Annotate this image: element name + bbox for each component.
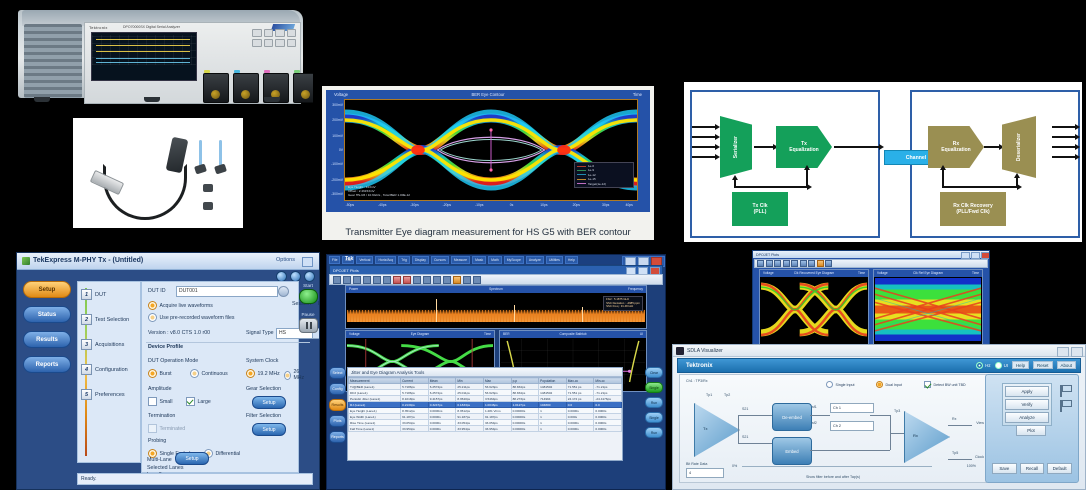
system-clock-label: System Clock: [246, 358, 278, 364]
probe-lead-1: [199, 140, 202, 166]
step-number: 4: [81, 364, 92, 375]
rx-clk-to-eq: [942, 170, 944, 188]
checkbox-terminated[interactable]: Terminated: [148, 424, 185, 433]
tekexpress-window[interactable]: TekExpress M-PHY Tx - (Untitled) Options…: [16, 252, 320, 490]
dpojet-plots-title: DPOJET Plots: [333, 268, 359, 273]
step-configuration[interactable]: 4Configuration: [78, 357, 140, 382]
rxeq-to-deser-arrow: [984, 146, 1000, 148]
wire-in-bottom: [738, 443, 772, 444]
zoom-out-icon[interactable]: [783, 260, 790, 267]
close-icon[interactable]: [304, 271, 315, 282]
multi-lane-label: Multi-Lane: [147, 457, 172, 463]
multi-lane-setup-button[interactable]: Setup: [175, 452, 209, 465]
dpojet-left-buttons[interactable]: Select Config Results Plots Reports: [329, 367, 346, 447]
sdla-recall-button[interactable]: Recall: [1020, 463, 1045, 474]
wire-to-out-amp: [890, 433, 904, 434]
sdla-brand-label: Tektronix: [686, 363, 713, 369]
dual-eye-titlebar: DPOJET Plots: [753, 251, 990, 258]
eye-diagram-caption: Transmitter Eye diagram measurement for …: [322, 227, 654, 238]
marker-icon[interactable]: [403, 276, 411, 284]
radio-clock-19[interactable]: 19.2 MHz: [246, 369, 280, 378]
layout-icon[interactable]: [808, 260, 815, 267]
wire-in-top: [738, 415, 772, 416]
sdla-verify-button[interactable]: Verify: [1005, 399, 1049, 410]
dut-id-label: DUT ID: [148, 288, 166, 294]
dpojet-right-buttons[interactable]: Clear Single Run Single Run: [645, 367, 663, 442]
eye-x-label: Time: [484, 332, 491, 336]
progress-slider[interactable]: [742, 466, 932, 467]
right-eye-canvas: [875, 278, 981, 341]
eye-y-label: Voltage: [349, 332, 360, 336]
deembed-block[interactable]: De-embed: [772, 403, 812, 431]
left-eye-header: Voltage Clk Recovered Eye Diagram Time: [760, 270, 868, 277]
sdla-reset-button[interactable]: Reset: [1033, 361, 1052, 369]
left-eye-y-label: Voltage: [763, 271, 774, 275]
tx-clock-block: Tx Clk(PLL): [732, 192, 788, 226]
tekexpress-options-menu[interactable]: Options: [276, 257, 295, 263]
oscilloscope-photo: Tektronix DPO70000SX Digital Serial Anal…: [8, 2, 313, 106]
sdla-primary-actions[interactable]: Apply Verify Analyze: [1002, 383, 1052, 426]
sdla-title: SDLA Visualizer: [687, 348, 723, 354]
termination-label: Termination: [148, 413, 175, 419]
tx-clk-to-eq: [806, 170, 808, 188]
left-eye-x-label: Time: [858, 271, 865, 275]
radio-continuous[interactable]: Continuous: [190, 369, 228, 378]
ber-eye-legend: 1e-6 1e-9 1e-12 1e-15 Target(1e-12): [574, 162, 634, 188]
radio-dual-input[interactable]: Dual Input: [876, 381, 902, 388]
refresh-icon[interactable]: [463, 276, 471, 284]
tekexpress-title: TekExpress M-PHY Tx - (Untitled): [33, 257, 143, 264]
pause-label: Pause: [299, 312, 317, 317]
ser-to-txeq-arrow: [754, 146, 774, 148]
eye-header: Voltage Eye Diagram Time: [346, 331, 494, 338]
dual-eye-title: DPOJET Plots: [756, 253, 779, 257]
print-icon[interactable]: [766, 260, 773, 267]
tekexpress-dut-panel: DUT ID DUT001 Acquire live waveforms Ses…: [141, 281, 299, 473]
sdla-analyze-button[interactable]: Analyze: [1005, 412, 1049, 423]
probing-label: Probing: [148, 438, 166, 444]
dut-id-input[interactable]: DUT001: [176, 286, 278, 297]
sdla-footer-note: Show filter before and after Tap(s): [806, 475, 860, 479]
rx-clk-to-deser: [1016, 178, 1018, 188]
close-icon[interactable]: [981, 252, 990, 259]
radio-prerecorded[interactable]: Use pre-recorded waveform files: [148, 313, 234, 322]
differential-probe-photo: [55, 108, 255, 236]
print-icon[interactable]: [343, 276, 351, 284]
clk-recovered-eye-plot: Voltage Clk Recovered Eye Diagram Time: [759, 269, 869, 349]
step-dut[interactable]: 1DUT: [78, 282, 140, 307]
dpojet-btn-config[interactable]: Config: [329, 383, 346, 395]
scope-menu-bar[interactable]: File Edit Vertical Horiz/Acq Trig Displa…: [327, 255, 666, 264]
filter-icon[interactable]: [433, 276, 441, 284]
bit-rate-label: Bit Rate Data: [686, 462, 707, 466]
dual-eye-window-buttons[interactable]: [961, 252, 990, 259]
ber-eye-header: Voltage BER Eye Contour Time: [326, 90, 650, 99]
nav-status[interactable]: Status: [23, 306, 71, 323]
ber-eye-x-ticks: -50ps -40ps -30ps -20ps -10ps 0s 10ps 20…: [344, 202, 638, 211]
right-eye-title: Clk Ref Eye Diagram: [913, 271, 943, 275]
probe-backdrop: [73, 118, 243, 228]
filter-selection-label: Filter Selection: [246, 413, 281, 419]
dpojet-btn-run-2[interactable]: Run: [645, 427, 663, 438]
tekexpress-run-controls[interactable]: Start Pause: [299, 283, 317, 334]
txeq-to-channel-arrow: [834, 146, 880, 148]
tekexpress-app-icon: [22, 257, 30, 265]
rx-clock-recovery-block: Rx Clk Recovery(PLL/Fwd Clk): [940, 192, 1006, 226]
node-tp5: Tp5: [952, 451, 958, 455]
output-clock-label: Clock: [975, 455, 984, 459]
sdla-signal-path-canvas[interactable]: Ch1 : TP3/Rx Tp1 Tp2 Tx S21 S21 De-embed…: [679, 374, 987, 483]
tx-clk-bus: [734, 186, 808, 188]
wire-cha-out: [870, 415, 890, 416]
dpojet-btn-plots[interactable]: Plots: [329, 415, 346, 427]
right-eye-x-label: Time: [972, 271, 979, 275]
dual-eye-window[interactable]: DPOJET Plots Voltage Clk Recovered Eye D…: [752, 250, 990, 356]
step-number: 1: [81, 289, 92, 300]
ber-eye-y-ticks: 300mV 200mV 100mV 0V -100mV -200mV -300m…: [327, 99, 344, 201]
deserializer-block: Deserializer: [1002, 116, 1036, 178]
spectrum-header: Power Spectrum Frequency: [346, 286, 646, 293]
scope-model-label: DPO70000SX Digital Serial Analyzer: [123, 25, 180, 29]
zoom-out-icon[interactable]: [363, 276, 371, 284]
grid-icon[interactable]: [800, 260, 807, 267]
step-acquisitions[interactable]: 3Acquisitions: [78, 332, 140, 357]
eye-title: Eye Diagram: [411, 332, 429, 336]
ber-eye-y-axis-label: Voltage: [334, 92, 348, 97]
layout-icon[interactable]: [423, 276, 431, 284]
cursor-icon[interactable]: [373, 276, 381, 284]
dpojet-toolbar[interactable]: [329, 274, 663, 285]
start-button[interactable]: [299, 289, 318, 304]
node-s21-bottom: S21: [742, 435, 748, 439]
node-tp1: Tp1: [706, 393, 712, 397]
divider: [146, 342, 310, 343]
scope-feet: [34, 97, 284, 102]
nav-reports[interactable]: Reports: [23, 356, 71, 373]
channel-b-select[interactable]: Ch 2: [830, 421, 874, 431]
serializer-block: Serializer: [720, 116, 752, 178]
dpojet-btn-single-2[interactable]: Single: [645, 412, 663, 423]
output-view-label: View: [976, 421, 984, 425]
tekexpress-pin-icon[interactable]: [302, 257, 313, 267]
node-tp2: Tp2: [724, 393, 730, 397]
tx-clk-to-ser: [734, 180, 736, 188]
embed-block[interactable]: Embed: [772, 437, 812, 465]
step-number: 2: [81, 314, 92, 325]
save-icon[interactable]: [757, 260, 764, 267]
zoom-in-icon[interactable]: [353, 276, 361, 284]
pan-icon[interactable]: [383, 276, 391, 284]
sdla-apply-button[interactable]: Apply: [1005, 386, 1049, 397]
tekexpress-status-bar: Ready.: [77, 473, 313, 485]
wire-deembed-out: [810, 415, 830, 416]
wire-out-clk: [948, 459, 972, 460]
spectrum-plot: Power Spectrum Frequency Fb/2 : 5.1875 G…: [345, 285, 647, 329]
probe-accessory-2: [203, 202, 213, 210]
sdla-save-button[interactable]: Save: [992, 463, 1017, 474]
sdla-brand-bar: Tektronix Hz UI Help Reset About: [677, 358, 1081, 373]
highlight-icon[interactable]: [453, 276, 461, 284]
radio-burst[interactable]: Burst: [148, 369, 172, 378]
radio-unit-hz[interactable]: Hz: [976, 362, 990, 369]
left-eye-title: Clk Recovered Eye Diagram: [794, 271, 834, 275]
clk-ref-eye-plot: Voltage Clk Ref Eye Diagram Time Gear HS…: [873, 269, 983, 349]
pause-button[interactable]: [299, 318, 318, 333]
maximize-icon[interactable]: [971, 252, 980, 259]
tekexpress-nav[interactable]: Setup Status Results Reports: [23, 281, 75, 381]
selected-lanes-label: Selected Lanes: [147, 465, 184, 471]
slider-min-label: 0%: [732, 464, 737, 468]
checkbox-large[interactable]: Large: [186, 397, 211, 406]
dut-id-browse-icon[interactable]: [278, 286, 289, 297]
left-eye-canvas: [761, 278, 867, 341]
serial-link-block-diagram: Serializer TxEqualization Channel RxEqua…: [684, 82, 1082, 242]
cursor-icon[interactable]: [791, 260, 798, 267]
export-icon[interactable]: [443, 276, 451, 284]
radio-clock-26[interactable]: 26 MHz: [284, 369, 306, 381]
spectrum-title: Spectrum: [489, 287, 503, 291]
input-amplifier[interactable]: Tx: [694, 403, 740, 457]
step-number: 3: [81, 339, 92, 350]
gear-setup-button[interactable]: Setup: [252, 396, 286, 409]
wire-embed-out: [810, 450, 890, 451]
rx-clk-bus: [942, 186, 1018, 188]
scope-display: [91, 32, 197, 81]
output-amplifier[interactable]: Rx: [904, 411, 950, 463]
bit-rate-input[interactable]: 4: [686, 468, 724, 478]
ber-eye-contour-card: Voltage BER Eye Contour Time 300mV 200mV…: [322, 86, 654, 240]
radio-unit-ui[interactable]: UI: [995, 362, 1008, 369]
zoom-in-icon[interactable]: [774, 260, 781, 267]
probe-lead-2: [219, 140, 222, 166]
settings-icon[interactable]: [473, 276, 481, 284]
radio-differential[interactable]: Differential: [204, 449, 240, 458]
start-label: Start: [299, 283, 317, 288]
bathtub-x-label: UI: [640, 332, 643, 336]
spectrum-y-label: Power: [349, 287, 358, 291]
bathtub-y-label: BER: [503, 332, 510, 336]
operation-mode-label: DUT Operation Mode: [148, 358, 198, 364]
jitter-results-table-window[interactable]: Jitter and Eye Diagram Analysis Tools Me…: [347, 367, 623, 461]
ber-eye-stats: Eye Height : 143mV Offset : 2.46153mV Ge…: [348, 185, 410, 197]
ber-eye-x-axis-label: Time: [633, 92, 642, 97]
settings-icon[interactable]: [825, 260, 832, 267]
amplitude-label: Amplitude: [148, 386, 172, 392]
signal-type-label: Signal Type: [246, 330, 274, 336]
sdla-source-label: Ch1 : TP3/Rx: [686, 379, 708, 383]
step-test-selection[interactable]: 2Test Selection: [78, 307, 140, 332]
wire-in-split: [738, 415, 739, 443]
nav-setup[interactable]: Setup: [23, 281, 71, 298]
dpojet-btn-reports[interactable]: Reports: [329, 431, 346, 443]
radio-single-input[interactable]: Single Input: [826, 381, 854, 388]
save-icon[interactable]: [333, 276, 341, 284]
scope-waveform-area: [92, 35, 196, 65]
session-value: Default: [318, 301, 320, 307]
channel-a-select[interactable]: Ch 1: [830, 403, 874, 413]
legend-item: Target(1e-12): [577, 182, 631, 186]
sdla-visualizer-window[interactable]: SDLA Visualizer Tektronix Hz UI Help Res…: [672, 344, 1086, 490]
spectrum-x-label: Frequency: [628, 287, 643, 291]
gear-selection-label: Gear Selection: [246, 386, 281, 392]
step-number: 5: [81, 389, 92, 400]
node-s21-top: S21: [742, 407, 748, 411]
sdla-flag-icons: [1058, 385, 1072, 411]
minimize-icon[interactable]: [961, 252, 970, 259]
bathtub-header: BER Composite Bathtub UI: [500, 331, 646, 338]
slide-canvas: Tektronix DPO70000SX Digital Serial Anal…: [0, 0, 1086, 489]
version-label: Version : v8.0 CTS 1.0 r00: [148, 330, 210, 336]
sdla-plot-button[interactable]: Plot: [1016, 425, 1046, 436]
right-eye-header: Voltage Clk Ref Eye Diagram Time: [874, 270, 982, 277]
ber-eye-plot: Voltage BER Eye Contour Time 300mV 200mV…: [326, 90, 650, 212]
dpojet-btn-run[interactable]: Run: [645, 397, 663, 408]
sdla-help-button[interactable]: Help: [1012, 361, 1029, 369]
device-profile-heading: Device Profile: [148, 344, 183, 350]
spectrum-canvas: Fb/2 : 5.1875 GHz SSC Deviation : -4985 …: [347, 294, 645, 322]
menu-file[interactable]: File: [329, 256, 340, 264]
dpojet-btn-single[interactable]: Single: [645, 382, 663, 393]
spectrum-annotations: Fb/2 : 5.1875 GHz SSC Deviation : -4985 …: [603, 296, 643, 311]
highlight-icon[interactable]: [817, 260, 824, 267]
tekexpress-step-list[interactable]: 1DUT 2Test Selection 3Acquisitions 4Conf…: [77, 281, 141, 463]
scope-vent-grille: [24, 24, 82, 98]
dual-eye-toolbar[interactable]: [754, 259, 988, 268]
slider-max-label: 100%: [967, 464, 976, 468]
sdla-app-icon: [676, 347, 684, 355]
filter-setup-button[interactable]: Setup: [252, 423, 286, 436]
dpojet-btn-results[interactable]: Results: [329, 399, 346, 411]
sdla-titlebar: SDLA Visualizer: [673, 345, 1086, 357]
jitter-table-title: Jitter and Eye Diagram Analysis Tools: [348, 368, 622, 377]
scope-brand-label: Tektronix: [89, 25, 108, 30]
node-sf2: sf2: [812, 421, 817, 425]
bathtub-title: Composite Bathtub: [559, 332, 586, 336]
dpojet-btn-select[interactable]: Select: [329, 367, 346, 379]
record-icon[interactable]: [393, 276, 401, 284]
scope-chassis: Tektronix DPO70000SX Digital Serial Anal…: [18, 10, 303, 98]
scope-port-bank[interactable]: [252, 29, 296, 47]
grid-icon[interactable]: [413, 276, 421, 284]
nav-results[interactable]: Results: [23, 331, 71, 348]
node-rx: Rx: [952, 417, 956, 421]
sdla-action-panel[interactable]: Apply Verify Analyze Plot Save Recall De…: [985, 374, 1079, 483]
tekexpress-titlebar: TekExpress M-PHY Tx - (Untitled) Options: [17, 253, 319, 270]
node-tp3: Tp3: [894, 409, 900, 413]
jitter-results-table[interactable]: Measurement Current Mean Min Max p-p Pop…: [348, 377, 622, 432]
right-eye-y-label: Voltage: [877, 271, 888, 275]
checkbox-detect-bw[interactable]: Detect BW unit TBD: [924, 381, 966, 388]
sdla-about-button[interactable]: About: [1057, 361, 1076, 369]
table-row: Fall Time (Lane1)33.954ps0.0000s 33.954p…: [349, 426, 622, 432]
ber-eye-title: BER Eye Contour: [471, 92, 504, 97]
node-sf1: sf1: [812, 405, 817, 409]
sdla-window-buttons[interactable]: [1057, 347, 1086, 357]
scope-front-panel: Tektronix DPO70000SX Digital Serial Anal…: [84, 22, 301, 104]
dpojet-scope-window[interactable]: File Edit Vertical Horiz/Acq Trig Displa…: [326, 254, 666, 490]
step-preferences[interactable]: 5Preferences: [78, 382, 140, 407]
sdla-default-button[interactable]: Default: [1047, 463, 1072, 474]
ber-eye-canvas: 1e-6 1e-9 1e-12 1e-15 Target(1e-12) Eye …: [344, 99, 638, 201]
minimize-icon[interactable]: [1057, 347, 1069, 357]
checkbox-small[interactable]: Small: [148, 397, 172, 406]
radio-acquire-live[interactable]: Acquire live waveforms: [148, 301, 213, 310]
sdla-brand-controls[interactable]: Hz UI Help Reset About: [976, 361, 1076, 369]
probe-accessory-1: [203, 184, 213, 192]
wire-out-view: [948, 425, 972, 426]
dpojet-btn-clear[interactable]: Clear: [645, 367, 663, 378]
maximize-icon[interactable]: [1071, 347, 1083, 357]
sdla-file-actions[interactable]: Save Recall Default: [992, 463, 1072, 474]
